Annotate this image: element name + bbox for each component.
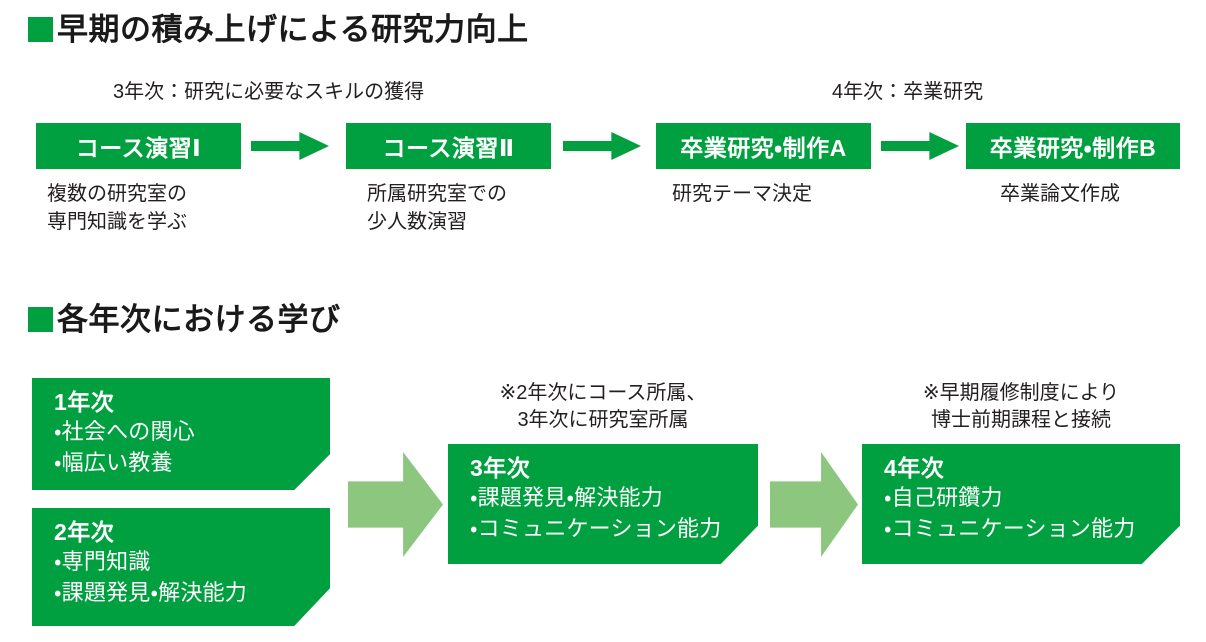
year-block-item: ・幅広い教養: [54, 448, 330, 479]
section-heading-label: 早期の積み上げによる研究力向上: [57, 14, 529, 45]
year-block-third-year[interactable]: 3年次 ・課題発見・解決能力 ・コミュニケーション能力: [448, 444, 758, 564]
flow-box-graduation-research-a[interactable]: 卒業研究・制作A: [656, 123, 871, 169]
course-flow-row: コース演習Ⅰ コース演習Ⅱ 卒業研究・制作A 卒業研究・制作B: [36, 123, 1180, 169]
section-heading-label: 各年次における学び: [57, 304, 341, 335]
right-arrow-icon: [563, 132, 641, 160]
flow-box-graduation-research-b[interactable]: 卒業研究・制作B: [966, 123, 1180, 169]
year-block-title: 4年次: [884, 454, 1180, 483]
year-block-title: 2年次: [54, 518, 330, 547]
year-block-fourth-year[interactable]: 4年次 ・自己研鑽力 ・コミュニケーション能力: [862, 444, 1180, 564]
right-arrow-icon: [770, 452, 858, 557]
flow-box-caption-graduation-research-a: 研究テーマ決定: [672, 180, 812, 208]
year-block-item: ・課題発見・解決能力: [470, 483, 758, 514]
year-block-item: ・コミュニケーション能力: [470, 514, 758, 545]
right-arrow-icon: [251, 132, 329, 160]
year-block-item: ・自己研鑽力: [884, 483, 1180, 514]
year-block-item: ・コミュニケーション能力: [884, 514, 1180, 545]
year-caption-third-year: 3年次：研究に必要なスキルの獲得: [113, 82, 424, 102]
year-block-first-year[interactable]: 1年次 ・社会への関心 ・幅広い教養: [32, 378, 330, 490]
year-block-second-year[interactable]: 2年次 ・専門知識 ・課題発見・解決能力: [32, 508, 330, 626]
flow-box-caption-graduation-research-b: 卒業論文作成: [1000, 180, 1120, 208]
section-heading-learning-by-year: 各年次における学び: [28, 304, 341, 335]
year-block-title: 1年次: [54, 388, 330, 417]
flow-box-caption-course-seminar-1: 複数の研究室の 専門知識を学ぶ: [47, 180, 187, 237]
flow-box-course-seminar-2[interactable]: コース演習Ⅱ: [346, 123, 551, 169]
flow-box-course-seminar-1[interactable]: コース演習Ⅰ: [36, 123, 241, 169]
year-caption-fourth-year: 4年次：卒業研究: [832, 82, 983, 102]
right-arrow-icon: [881, 132, 959, 160]
year-block-item: ・課題発見・解決能力: [54, 578, 330, 609]
flow-box-caption-course-seminar-2: 所属研究室での 少人数演習: [367, 180, 507, 237]
right-arrow-icon: [348, 452, 443, 557]
year-block-item: ・専門知識: [54, 547, 330, 578]
year-block-item: ・社会への関心: [54, 417, 330, 448]
section-heading-research-strength: 早期の積み上げによる研究力向上: [28, 14, 529, 45]
stage-note-course-affiliation: ※2年次にコース所属、 3年次に研究室所属: [448, 380, 758, 434]
heading-square-marker-icon: [28, 17, 53, 42]
year-block-title: 3年次: [470, 454, 758, 483]
heading-square-marker-icon: [28, 307, 53, 332]
stage-note-early-enrollment: ※早期履修制度により 博士前期課程と接続: [862, 380, 1180, 434]
